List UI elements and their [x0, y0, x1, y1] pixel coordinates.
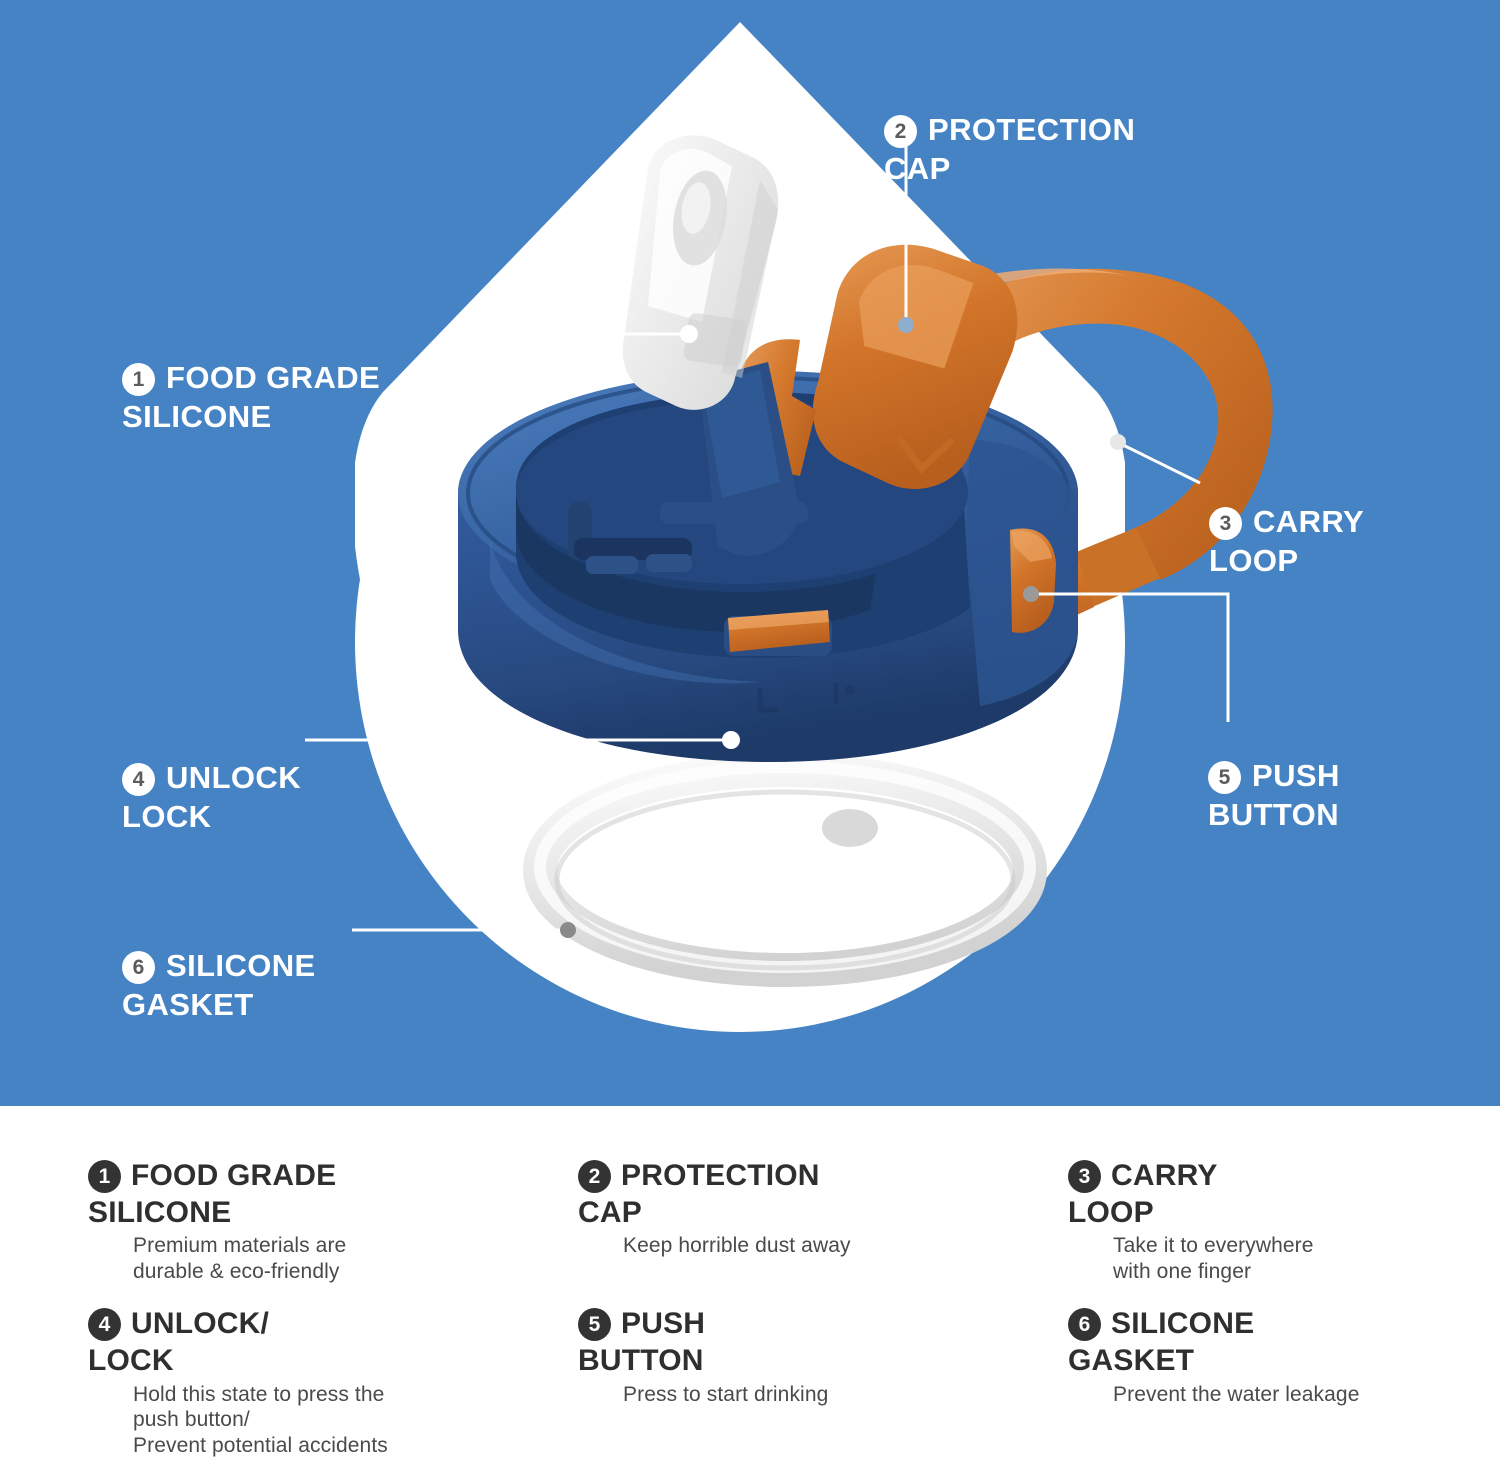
callout-2-protection-cap: 2PROTECTION CAP [884, 70, 1214, 189]
callout-badge-6: 6 [122, 951, 155, 984]
hero-section: 1FOOD GRADE SILICONE 2PROTECTION CAP 3CA… [0, 0, 1500, 1106]
legend-item-5: 5PUSH BUTTON Press to start drinking [578, 1306, 1068, 1458]
bottle-lid-illustration [330, 110, 1280, 1030]
legend-title-1: FOOD GRADE SILICONE [88, 1159, 336, 1229]
silicone-gasket-part [540, 767, 1030, 970]
legend-item-4: 4UNLOCK/ LOCK Hold this state to press t… [88, 1306, 578, 1458]
legend-desc-5: Press to start drinking [578, 1382, 1050, 1408]
callout-badge-1: 1 [122, 363, 155, 396]
legend-badge-4: 4 [88, 1308, 121, 1341]
callout-badge-2: 2 [884, 115, 917, 148]
callout-1-food-grade-silicone: 1FOOD GRADE SILICONE [122, 318, 492, 437]
product-feature-infographic: 1FOOD GRADE SILICONE 2PROTECTION CAP 3CA… [0, 0, 1500, 1470]
callout-title-1: FOOD GRADE SILICONE [122, 360, 380, 435]
legend-item-1: 1FOOD GRADE SILICONE Premium materials a… [88, 1158, 578, 1284]
legend-item-2: 2PROTECTION CAP Keep horrible dust away [578, 1158, 1068, 1284]
legend-badge-2: 2 [578, 1160, 611, 1193]
callout-4-unlock-lock: 4UNLOCK LOCK [122, 718, 452, 837]
legend-badge-3: 3 [1068, 1160, 1101, 1193]
unlock-lock-slider-part [724, 610, 832, 656]
callout-title-2: PROTECTION CAP [884, 112, 1135, 187]
legend-desc-4: Hold this state to press the push button… [88, 1382, 560, 1459]
legend-desc-1: Premium materials are durable & eco-frie… [88, 1233, 560, 1284]
legend-desc-2: Keep horrible dust away [578, 1233, 1050, 1259]
legend-heading-1: 1FOOD GRADE SILICONE [88, 1158, 560, 1231]
legend-heading-2: 2PROTECTION CAP [578, 1158, 1050, 1231]
callout-6-silicone-gasket: 6SILICONE GASKET [122, 906, 482, 1025]
legend-section: 1FOOD GRADE SILICONE Premium materials a… [0, 1106, 1500, 1470]
callout-badge-4: 4 [122, 763, 155, 796]
legend-item-6: 6SILICONE GASKET Prevent the water leaka… [1068, 1306, 1478, 1458]
legend-heading-3: 3CARRY LOOP [1068, 1158, 1460, 1231]
legend-badge-5: 5 [578, 1308, 611, 1341]
legend-heading-6: 6SILICONE GASKET [1068, 1306, 1460, 1379]
legend-item-3: 3CARRY LOOP Take it to everywhere with o… [1068, 1158, 1478, 1284]
legend-desc-6: Prevent the water leakage [1068, 1382, 1460, 1408]
legend-title-2: PROTECTION CAP [578, 1159, 820, 1229]
legend-heading-4: 4UNLOCK/ LOCK [88, 1306, 560, 1379]
legend-heading-5: 5PUSH BUTTON [578, 1306, 1050, 1379]
callout-3-carry-loop: 3CARRY LOOP [1209, 462, 1499, 581]
callout-badge-3: 3 [1209, 507, 1242, 540]
callout-badge-5: 5 [1208, 761, 1241, 794]
legend-badge-1: 1 [88, 1160, 121, 1193]
legend-desc-3: Take it to everywhere with one finger [1068, 1233, 1460, 1284]
callout-5-push-button: 5PUSH BUTTON [1208, 716, 1498, 835]
legend-badge-6: 6 [1068, 1308, 1101, 1341]
legend-grid: 1FOOD GRADE SILICONE Premium materials a… [88, 1158, 1478, 1458]
